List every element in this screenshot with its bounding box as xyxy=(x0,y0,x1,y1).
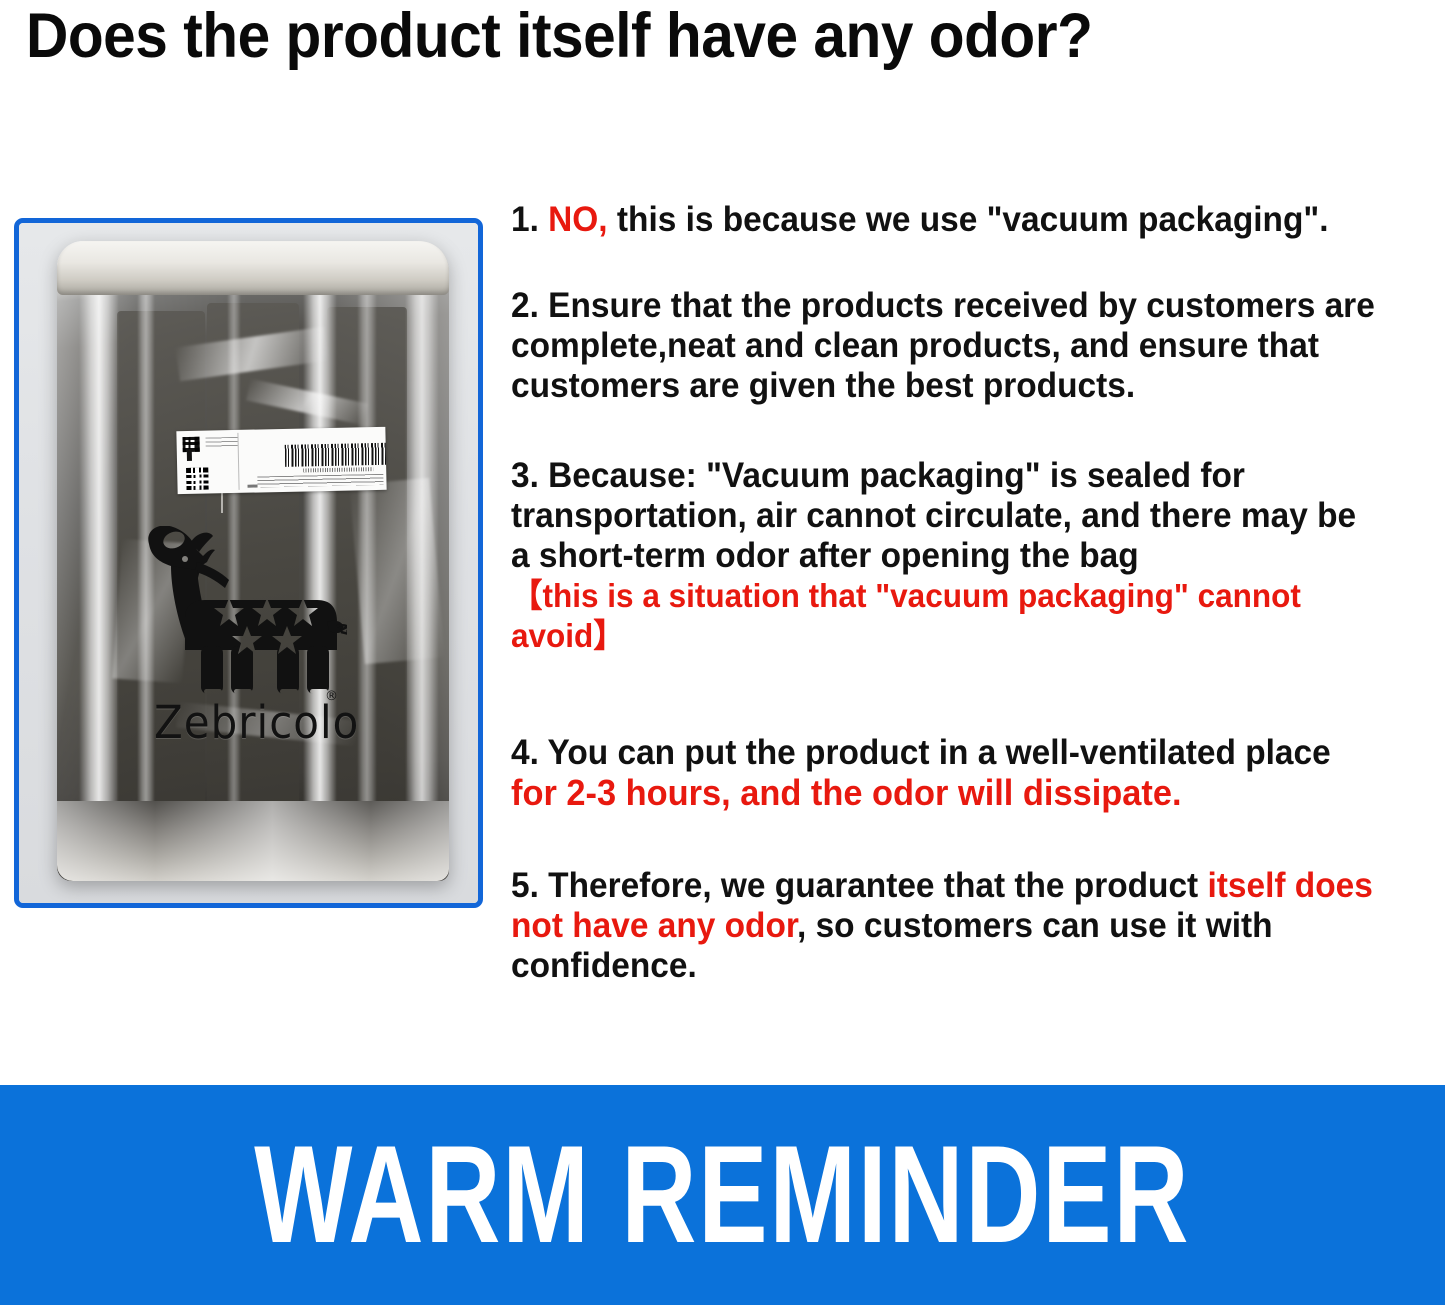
list-item: 1. NO, this is because we use "vacuum pa… xyxy=(511,200,1382,240)
barcode-icon xyxy=(285,443,387,467)
warm-reminder-text: WARM REMINDER xyxy=(254,1126,1190,1265)
item-3-body: 3. Because: "Vacuum packaging" is sealed… xyxy=(511,456,1365,575)
item-4-body: 4. You can put the product in a well-ven… xyxy=(511,733,1340,772)
brand-trademark-icon: ® xyxy=(325,689,338,704)
item-5-body-start: 5. Therefore, we guarantee that the prod… xyxy=(511,866,1207,905)
plastic-highlight xyxy=(349,478,444,664)
list-item: 5. Therefore, we guarantee that the prod… xyxy=(511,866,1382,986)
page-title: Does the product itself have any odor? xyxy=(26,0,1328,74)
label-description-text xyxy=(257,474,383,488)
bag-seal-bottom xyxy=(57,801,449,881)
warm-reminder-banner: WARM REMINDER xyxy=(0,1085,1445,1305)
item-2-body: 2. Ensure that the products received by … xyxy=(511,286,1384,405)
item-3-bracket-note: 【this is a situation that "vacuum packag… xyxy=(511,576,1382,656)
label-footer-text xyxy=(247,485,257,488)
qr-code-icon xyxy=(186,468,208,490)
product-photo: Zebricolo ® xyxy=(19,223,478,903)
label-address-text xyxy=(206,437,238,449)
item-1-body: this is because we use "vacuum packaging… xyxy=(608,200,1329,239)
product-photo-frame: Zebricolo ® xyxy=(14,218,483,908)
answer-list: 1. NO, this is because we use "vacuum pa… xyxy=(511,200,1423,986)
list-item: 4. You can put the product in a well-ven… xyxy=(511,733,1382,814)
bag-seal-top xyxy=(57,241,449,295)
item-1-no-emphasis: NO, xyxy=(548,200,607,239)
zebra-logo-icon xyxy=(141,526,347,706)
item-4-emphasis: for 2-3 hours, and the odor will dissipa… xyxy=(511,772,1181,813)
item-1-prefix: 1. xyxy=(511,200,548,239)
list-item: 3. Because: "Vacuum packaging" is sealed… xyxy=(511,456,1382,656)
label-right-column xyxy=(240,429,384,491)
shipping-label xyxy=(176,427,386,494)
barcode-number xyxy=(303,467,373,472)
plastic-fold xyxy=(79,281,119,881)
list-item: 2. Ensure that the products received by … xyxy=(511,286,1382,406)
datamatrix-code-icon xyxy=(187,449,192,461)
vacuum-bag: Zebricolo ® xyxy=(57,241,449,881)
label-left-column xyxy=(179,433,239,491)
